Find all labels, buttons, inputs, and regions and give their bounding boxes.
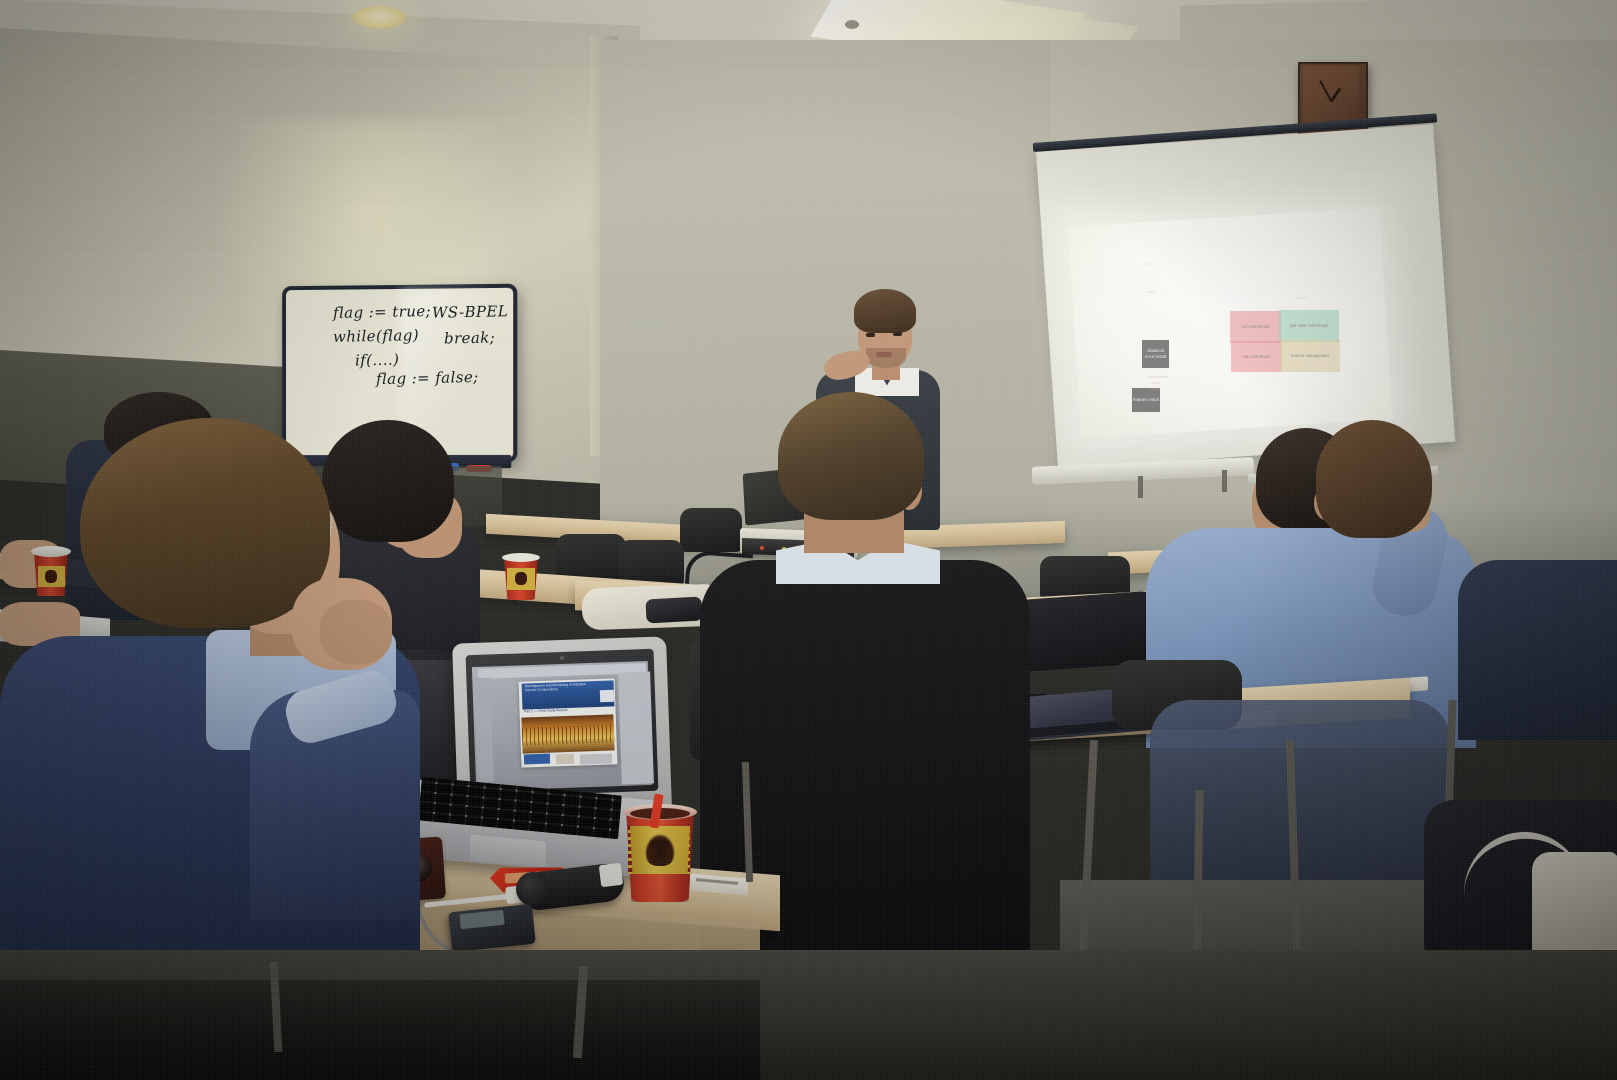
coffee-cup-small-rim xyxy=(502,553,540,562)
attendee-center-hair xyxy=(778,392,924,520)
attendee-dark-hair-hair xyxy=(322,420,454,542)
whiteboard-line-2: while(flag) xyxy=(333,326,419,346)
laptop-slide-logo-icon xyxy=(600,690,614,702)
whiteboard-label-wsbpel: WS-BPEL xyxy=(432,302,509,322)
attendee-right-edge-torso xyxy=(1458,560,1617,740)
recessed-downlight-icon xyxy=(352,6,406,29)
microphone-head-icon xyxy=(516,872,550,906)
whiteboard-line-3: if(....) xyxy=(355,351,400,370)
screen-bar-hook-right xyxy=(1222,470,1227,492)
presenter-beard xyxy=(866,348,906,368)
coffee-cup-lid-icon xyxy=(31,546,71,557)
screen-bar-hook-left xyxy=(1138,476,1143,498)
coffee-cup-large-logo-steam-icon xyxy=(650,840,670,848)
dark-object-on-desk[interactable] xyxy=(645,597,702,624)
attendee-right-front-hair xyxy=(1316,420,1432,538)
slide-box-feature-result: feature result xyxy=(1132,388,1160,412)
presenter-eye-left xyxy=(866,333,875,337)
laptop-slide-footer-right xyxy=(580,753,612,764)
slide-faint-label-2: output xyxy=(1146,290,1156,294)
laptop-slide-image-lines xyxy=(522,724,615,745)
laptop-app-right-pane[interactable] xyxy=(618,671,654,784)
slide-matrix-cell-bottom-right: feature unsupported xyxy=(1280,340,1340,372)
smoke-detector-icon xyxy=(845,20,859,29)
whiteboard-line-1: flag := true; xyxy=(333,302,431,322)
whiteboard-label-break: break; xyxy=(444,328,496,347)
attendee-foreground-hair xyxy=(80,418,330,628)
slide-faint-label-3: engine xyxy=(1296,296,1307,300)
slide-matrix-cell-top-right: pair-wise conformant xyxy=(1279,310,1339,342)
slide-faint-conformance: conformance xyxy=(1148,375,1169,379)
coffee-cup-small-logo-icon xyxy=(515,572,527,585)
slide-matrix-cell-bottom-left: not conformant xyxy=(1231,341,1282,372)
slide-faint-error: error xyxy=(1152,381,1160,385)
whiteboard-line-4: flag := false; xyxy=(376,368,479,388)
slide-faint-label-1: input xyxy=(1146,262,1154,266)
attendee-foreground-hand-2 xyxy=(320,600,392,664)
slide-matrix-cell-top-left: not conformant xyxy=(1230,311,1281,343)
coffee-cup-large-logo-icon xyxy=(645,834,675,866)
slide-faint-result: result xyxy=(1150,387,1159,391)
microphone-clip-icon xyxy=(599,863,624,888)
slide-box-classical-error-result: classical error result xyxy=(1142,340,1169,368)
laptop-slide-footer-left xyxy=(524,754,550,765)
floor-shadow-left xyxy=(0,980,760,1080)
chair-back-1[interactable] xyxy=(680,508,742,552)
laptop-slide-footer-middle xyxy=(556,754,574,765)
classroom-photo: flag := true; while(flag) if(....) flag … xyxy=(0,0,1617,1080)
coffee-cup-logo-icon xyxy=(45,570,57,583)
status-led-red-icon xyxy=(760,546,764,550)
presenter-mouth xyxy=(876,352,892,357)
presenter-hair xyxy=(854,289,916,333)
